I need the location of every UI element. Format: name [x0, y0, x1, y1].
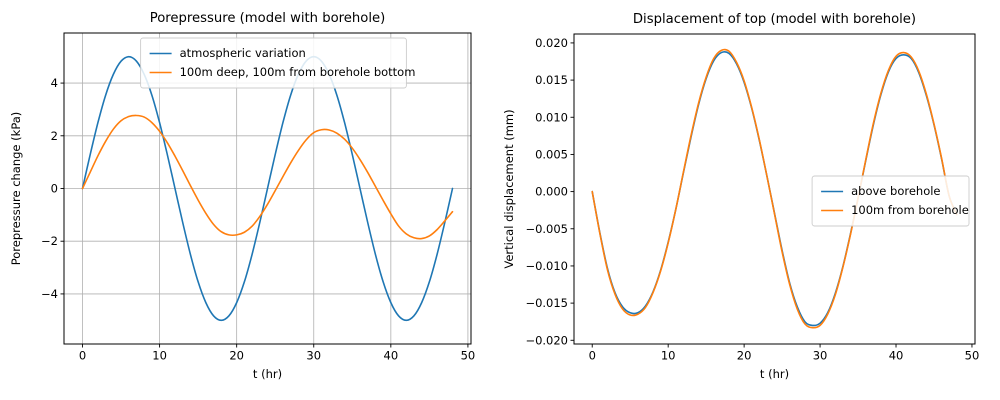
y-tick-label: −0.005	[525, 222, 568, 236]
x-axis-label: t (hr)	[760, 367, 789, 381]
x-tick-label: 30	[813, 349, 828, 363]
y-tick-label: 0.020	[535, 36, 568, 50]
chart-title: Displacement of top (model with borehole…	[633, 12, 916, 27]
y-axis-label: Vertical displacement (mm)	[502, 109, 516, 268]
y-tick-label: 0.000	[535, 185, 568, 199]
y-tick-label: −2	[41, 234, 58, 248]
y-tick-label: 0.010	[535, 110, 568, 124]
x-tick-label: 10	[152, 349, 167, 363]
x-tick-label: 30	[306, 349, 321, 363]
chart-title: Porepressure (model with borehole)	[150, 11, 386, 26]
y-tick-label: 4	[51, 76, 58, 90]
figure-canvas: Porepressure (model with borehole)010203…	[0, 0, 1000, 400]
series-line-2	[83, 115, 453, 238]
y-tick-label: 0	[51, 182, 58, 196]
x-tick-label: 10	[661, 349, 676, 363]
y-tick-label: −0.015	[525, 296, 568, 310]
y-tick-label: 0.005	[535, 147, 568, 161]
chart-panel-porepressure: Porepressure (model with borehole)010203…	[0, 0, 500, 400]
y-tick-label: 2	[51, 129, 58, 143]
legend-label-1: above borehole	[851, 184, 940, 198]
chart-panel-displacement: Displacement of top (model with borehole…	[500, 0, 1000, 400]
x-tick-label: 20	[229, 349, 244, 363]
y-axis-label: Porepressure change (kPa)	[9, 112, 23, 266]
y-tick-label: −0.010	[525, 259, 568, 273]
x-tick-label: 50	[965, 349, 980, 363]
y-tick-label: −4	[41, 287, 58, 301]
porepressure-chart-svg: Porepressure (model with borehole)010203…	[0, 0, 500, 400]
legend: above borehole100m from borehole	[812, 176, 969, 226]
legend-label-1: atmospheric variation	[180, 46, 306, 60]
x-tick-label: 50	[461, 349, 476, 363]
y-tick-label: 0.015	[535, 73, 568, 87]
x-tick-label: 0	[79, 349, 86, 363]
displacement-chart-svg: Displacement of top (model with borehole…	[500, 0, 1000, 400]
y-tick-label: −0.020	[525, 333, 568, 347]
x-tick-label: 40	[889, 349, 904, 363]
legend-label-2: 100m from borehole	[851, 203, 969, 217]
x-tick-label: 20	[737, 349, 752, 363]
legend-label-2: 100m deep, 100m from borehole bottom	[180, 65, 416, 79]
x-axis-label: t (hr)	[253, 367, 282, 381]
x-tick-label: 0	[589, 349, 596, 363]
x-tick-label: 40	[384, 349, 399, 363]
legend: atmospheric variation100m deep, 100m fro…	[141, 38, 416, 88]
